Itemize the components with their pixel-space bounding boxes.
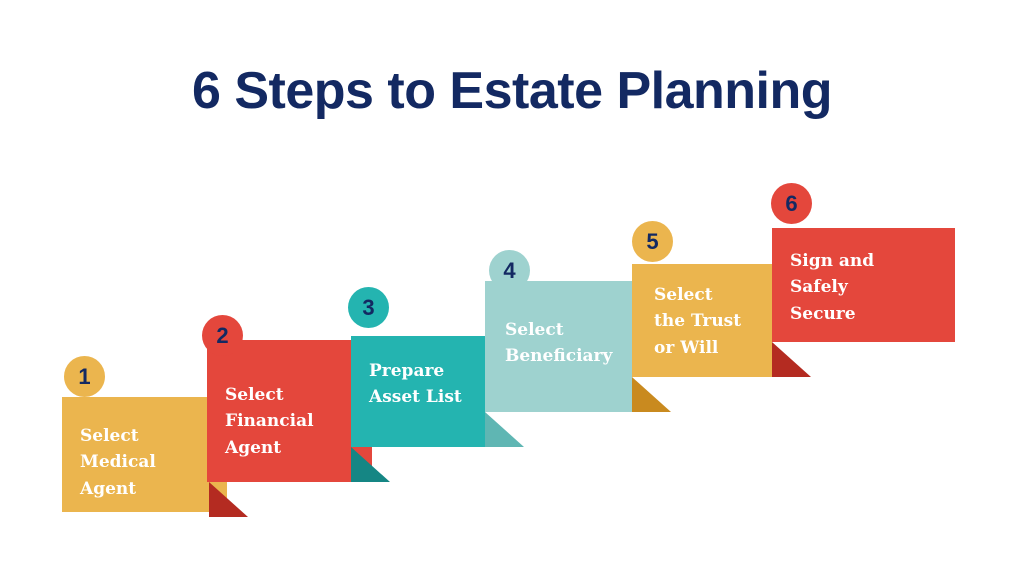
step-3-badge[interactable]: 3 <box>348 287 389 328</box>
step-3-label: Prepare Asset List <box>369 358 462 411</box>
step-1[interactable]: Select Medical Agent <box>62 397 227 512</box>
step-4-fold <box>485 412 524 447</box>
step-4-badge[interactable]: 4 <box>489 250 530 291</box>
step-5-fold <box>632 377 671 412</box>
step-4-number: 4 <box>503 260 515 282</box>
step-2-badge[interactable]: 2 <box>202 315 243 356</box>
step-4-label: Select Beneficiary <box>505 317 612 370</box>
step-5[interactable]: Select the Trust or Will <box>632 264 772 377</box>
step-1-badge[interactable]: 1 <box>64 356 105 397</box>
step-5-number: 5 <box>646 231 658 253</box>
step-6-number: 6 <box>785 193 797 215</box>
page-title: 6 Steps to Estate Planning <box>0 63 1024 120</box>
step-1-label: Select Medical Agent <box>80 423 156 502</box>
step-6-badge[interactable]: 6 <box>771 183 812 224</box>
step-1-number: 1 <box>78 366 90 388</box>
step-2-number: 2 <box>216 325 228 347</box>
step-4[interactable]: Select Beneficiary <box>485 281 632 412</box>
step-5-label: Select the Trust or Will <box>654 282 741 361</box>
step-6[interactable]: Sign and Safely Secure <box>772 228 955 342</box>
step-2-label: Select Financial Agent <box>225 382 314 461</box>
step-2[interactable]: Select Financial Agent <box>207 340 372 482</box>
step-3-number: 3 <box>362 297 374 319</box>
step-6-fold <box>772 342 811 377</box>
infographic-canvas: 6 Steps to Estate Planning Select Medica… <box>0 0 1024 576</box>
step-5-badge[interactable]: 5 <box>632 221 673 262</box>
step-3[interactable]: Prepare Asset List <box>351 336 485 447</box>
step-6-label: Sign and Safely Secure <box>790 248 874 327</box>
